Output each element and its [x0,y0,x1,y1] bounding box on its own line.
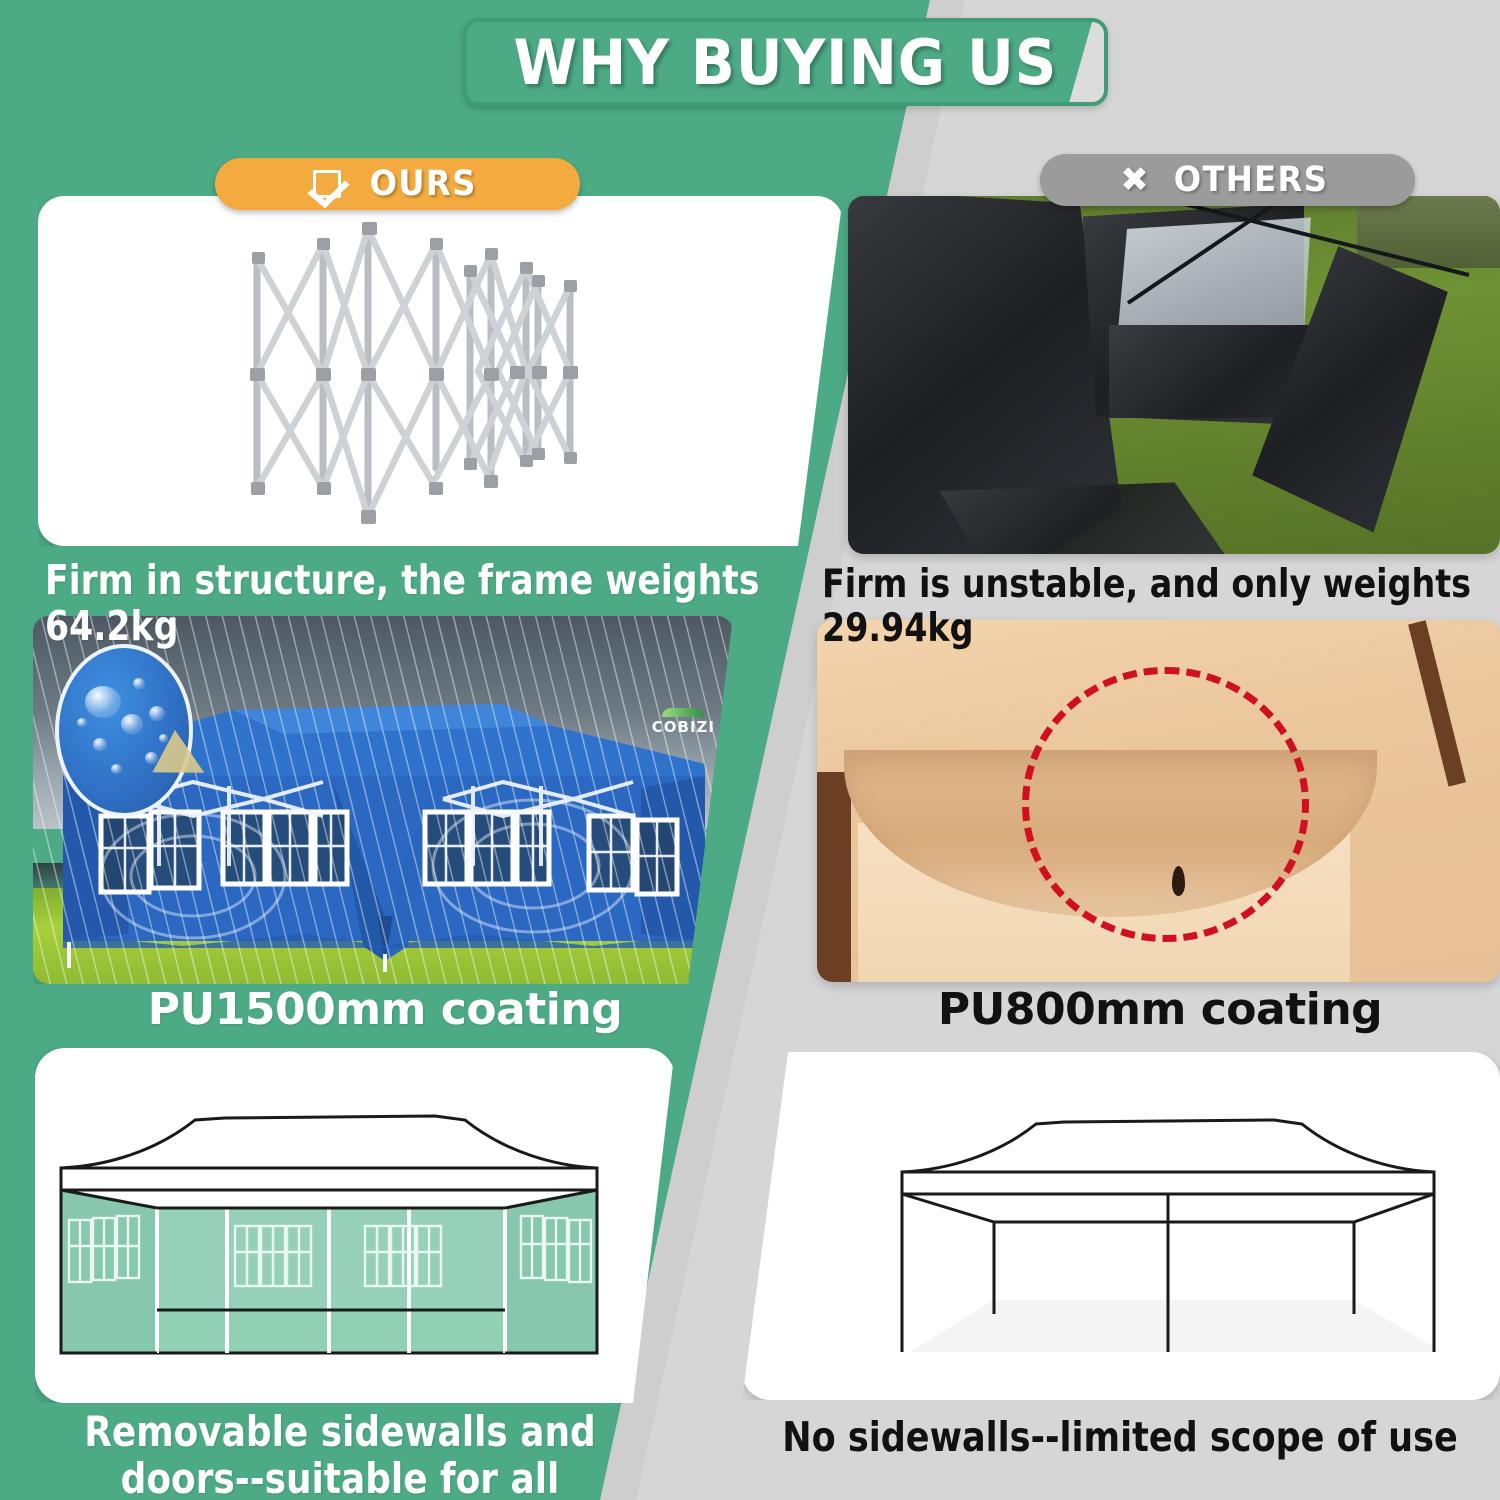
waterproof-bead-inset [55,644,193,817]
others-sidewalls-caption: No sidewalls--limited scope of use [778,1415,1462,1461]
ours-badge-label: OURS [370,164,477,204]
x-mark-icon: ✖ [1120,160,1149,200]
ours-sidewalls-caption-line2: doors--suitable for all seasons [36,1455,644,1500]
others-badge: ✖ OTHERS [1040,154,1415,206]
ours-sidewalls-caption: Removable sidewalls and doors--suitable … [36,1408,644,1500]
ours-frame-caption: Firm in structure, the frame weights 64.… [45,558,797,650]
checkbox-checked-icon [313,167,347,201]
shrub-background [1357,196,1500,268]
infographic-root: WHY BUYING US OURS ✖ OTHERS [0,0,1500,1500]
folding-scissor-frame-illustration [38,196,843,546]
canopy-without-sidewalls-line-drawing [742,1052,1500,1400]
others-coating-caption: PU800mm coating [815,985,1500,1034]
ours-blue-canopy-rain-photo: COBIZI [33,616,733,984]
others-badge-label: OTHERS [1173,160,1328,200]
others-sagging-canopy-photo [817,620,1500,982]
ours-sidewalls-drawing-card [35,1048,675,1403]
problem-highlight-ellipse [1022,667,1309,942]
brand-logo-text: COBIZI [652,718,715,736]
others-no-sidewalls-drawing-card [742,1052,1500,1400]
brand-logo: COBIZI [652,708,715,736]
tent-frame-left-post [817,772,851,982]
ours-sidewalls-caption-line1: Removable sidewalls and [36,1408,644,1455]
brand-swoosh-icon [662,708,704,717]
others-collapsed-tent-photo [848,196,1500,554]
ours-badge: OURS [215,158,580,210]
others-frame-caption: Firm is unstable, and only weights 29.94… [822,563,1478,650]
page-title-box: WHY BUYING US [463,18,1108,106]
page-title: WHY BUYING US [514,26,1058,99]
canopy-with-sidewalls-line-drawing [35,1048,675,1403]
ours-coating-caption: PU1500mm coating [40,985,730,1034]
ours-frame-card [38,196,843,546]
